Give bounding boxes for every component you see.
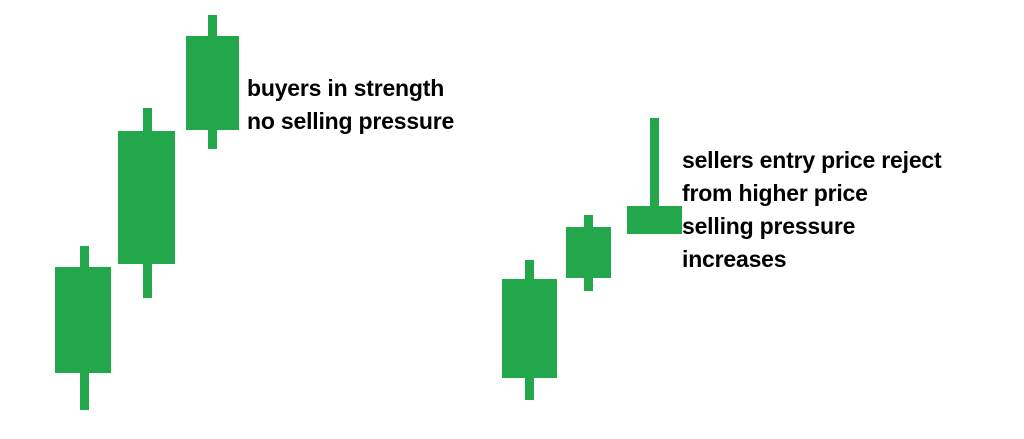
annotation-sellers-rejection-line-2: from higher price <box>682 177 941 210</box>
annotation-buyers-strength-line-1: buyers in strength <box>247 72 454 105</box>
candlestick-5-body <box>566 227 611 278</box>
candlestick-2-upper-wick <box>143 108 152 131</box>
annotation-sellers-rejection-line-1: sellers entry price reject <box>682 144 941 177</box>
candlestick-3-lower-wick <box>208 130 217 149</box>
candlestick-2-body <box>118 131 175 264</box>
candlestick-5-lower-wick <box>584 278 593 291</box>
annotation-buyers-strength-line-2: no selling pressure <box>247 105 454 138</box>
candlestick-1-upper-wick <box>80 246 89 267</box>
candlestick-3-body <box>186 36 239 130</box>
annotation-sellers-rejection-line-4: increases <box>682 243 941 276</box>
candlestick-6-upper-wick <box>650 118 659 206</box>
annotation-sellers-rejection: sellers entry price reject from higher p… <box>682 144 941 276</box>
candlestick-4-body <box>502 279 557 378</box>
annotation-buyers-strength: buyers in strength no selling pressure <box>247 72 454 138</box>
candlestick-diagram-canvas: buyers in strength no selling pressure s… <box>0 0 1024 439</box>
candlestick-3-upper-wick <box>208 15 217 36</box>
candlestick-4-upper-wick <box>525 260 534 279</box>
candlestick-1-body <box>55 267 111 373</box>
candlestick-6-body <box>627 206 682 234</box>
annotation-sellers-rejection-line-3: selling pressure <box>682 210 941 243</box>
candlestick-1-lower-wick <box>80 373 89 410</box>
candlestick-4-lower-wick <box>525 378 534 400</box>
candlestick-2-lower-wick <box>143 264 152 298</box>
candlestick-5-upper-wick <box>584 215 593 227</box>
